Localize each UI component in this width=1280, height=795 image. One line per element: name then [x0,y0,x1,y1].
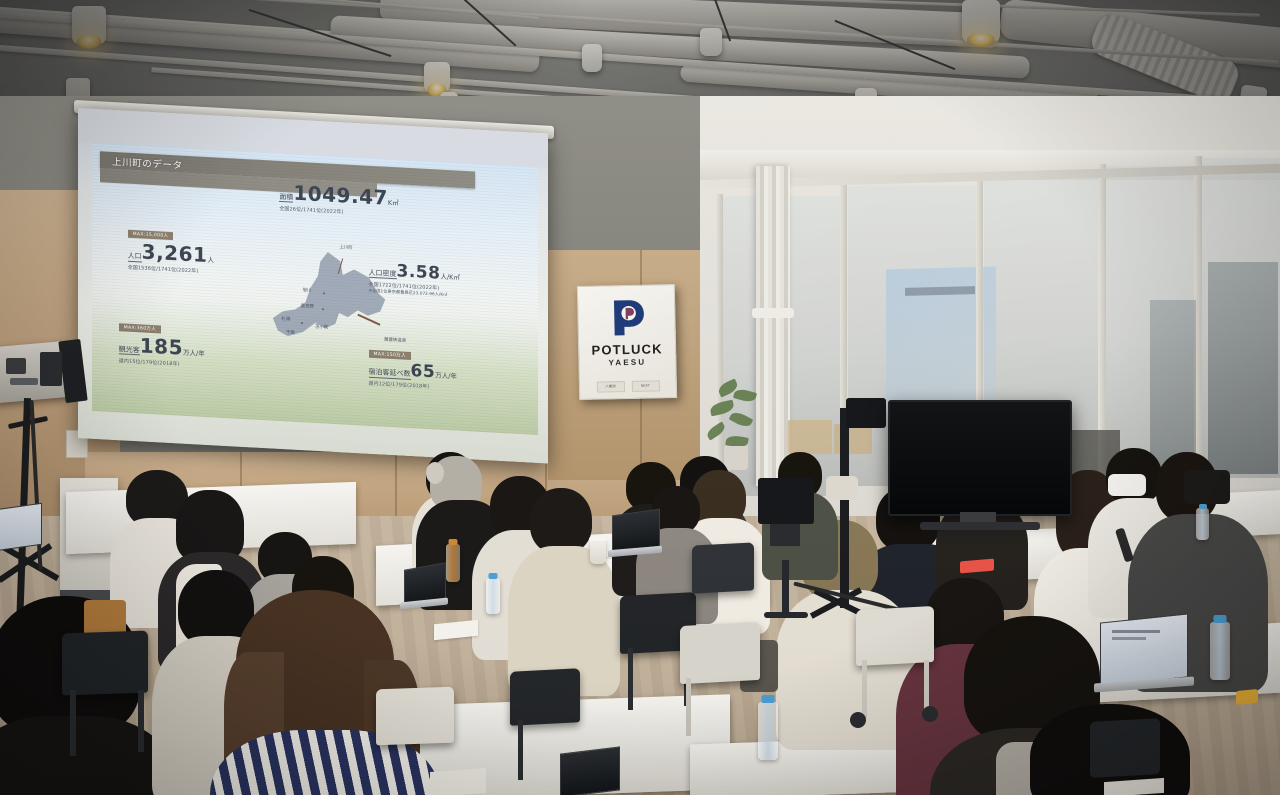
stat-density-label: 人口密度 [369,269,397,280]
map-city-label: 旭川 [303,287,312,293]
hokkaido-map [270,249,395,379]
paper-sheet [430,768,486,795]
bottle [486,578,500,614]
stat-tourists-sub: 道内15位/179位(2018年) [119,357,205,369]
stat-tourists-label: 観光客 [119,345,140,356]
background-stool [788,420,832,454]
chair-leg [70,690,76,756]
stat-population-unit: 人 [207,256,214,264]
stat-area-value: 1049.47 [293,180,388,209]
tv-stand-base [920,522,1040,530]
monitor-stand [770,524,800,546]
bottle [446,544,460,582]
chair[interactable] [692,542,754,593]
map-city-dot [322,309,324,311]
stat-area-unit: K㎡ [388,199,399,208]
stat-area-sub: 全国26位/1741位(2022年) [279,205,398,218]
chair-leg [628,648,633,710]
snack-item [1236,689,1258,705]
chair-leg [518,720,523,780]
map-city-dot [301,322,303,324]
caster-wheel [850,712,866,728]
caster-wheel [922,706,938,722]
bottle [1210,622,1230,680]
stat-density-sub: 全国1722位/1741位(2022年) [369,281,460,293]
equipment-stand [782,560,789,616]
sign-partner-logo-2: NEXT [631,380,659,392]
stat-population-value: 3,261 [142,239,208,267]
camera-tripod-column [840,408,849,608]
chair[interactable] [510,668,580,726]
stat-tourists-tag: MAX:360万人 [119,323,161,333]
bottle [758,702,778,760]
yaesu-wordmark: YAESU [579,357,675,368]
laptop-screen[interactable] [1100,613,1188,686]
stat-tourists-unit: 万人/年 [183,349,205,358]
map-city-label: 富良野 [301,303,314,310]
glass-door-panel [1150,300,1196,470]
flat-screen-tv[interactable] [888,400,1072,516]
map-city-label: 札幌 [282,316,291,322]
equipment-stand-base [764,612,808,618]
glass-door-panel [1208,262,1278,474]
potluck-yaesu-sign: POTLUCK YAESU 八重洲 NEXT [577,284,677,400]
chair[interactable] [856,606,934,666]
sign-partner-logo-1: 八重洲 [596,381,624,393]
stat-area-label: 面積 [279,193,293,203]
map-callout-town: 上川町 [340,245,353,252]
stat-population-sub: 全国1536位/1741位(2022年) [128,264,214,276]
slide-title: 上川町のデータ [112,154,183,172]
stat-density-unit: 人/K㎡ [440,272,459,281]
stat-density-note: ※全国1位東京都豊島区23,072.96人/K㎡ [369,288,460,299]
chair[interactable] [376,687,454,746]
chair[interactable] [62,630,148,695]
stat-population-label: 人口 [128,252,142,262]
stat-tourists-value: 185 [140,333,183,359]
stat-area: 面積1049.47K㎡ 全国26位/1741位(2022年) [279,180,398,218]
map-city-label: 千歳 [286,329,295,335]
paper-sheet [1104,778,1164,795]
stat-tourists: MAX:360万人 観光客185万人/年 道内15位/179位(2018年) [119,313,205,369]
map-city-label: 苫小牧 [315,324,328,331]
stat-overnight-sub: 道内12位/179位(2018年) [369,380,457,392]
slide-surface: 上川町のデータ 上川町 層雲峡温泉 旭川 富良野 札幌 千歳 苫小牧 MAX:1… [92,143,538,435]
video-light-battery [40,352,62,386]
laptop-screen[interactable] [560,746,620,795]
laptop-screen[interactable] [0,503,42,551]
map-callout-onsen: 層雲峡温泉 [384,337,406,344]
stat-overnight-value: 65 [411,361,436,382]
stat-overnight-label: 宿泊客延べ数 [369,368,411,380]
laptop-screen-text [1112,637,1146,640]
curtain-tieback[interactable] [752,308,794,318]
seminar-room-photo: 上川町のデータ 上川町 層雲峡温泉 旭川 富良野 札幌 千歳 苫小牧 MAX:1… [0,0,1280,795]
map-city-dot [323,292,325,294]
map-leader-line [358,314,381,326]
handbag [1184,470,1230,504]
sign-partner-logos: 八重洲 NEXT [580,380,676,393]
stat-population-tag: MAX:15,000人 [128,230,174,240]
camera-body [846,398,886,428]
stat-density-value: 3.58 [397,261,441,283]
stat-overnight: MAX:150万人 宿泊客延べ数65万人/年 道内12位/179位(2018年) [369,340,457,392]
chair-leg [686,678,691,736]
bottle [1196,508,1209,540]
potluck-wordmark: POTLUCK [579,341,675,358]
laptop-screen-text [1112,630,1160,633]
chair-leg [138,690,144,752]
video-light-display [6,358,26,374]
chair[interactable] [680,622,760,684]
projector-screen: 上川町のデータ 上川町 層雲峡温泉 旭川 富良野 札幌 千歳 苫小牧 MAX:1… [78,108,548,463]
map-leader-line [337,258,343,274]
monitor[interactable] [758,478,814,524]
stat-overnight-tag: MAX:150万人 [369,350,411,360]
camera-lens-icon [826,476,858,500]
stat-overnight-unit: 万人/年 [435,372,457,381]
video-light-controls[interactable] [10,378,38,385]
stat-density: 人口密度3.58人/K㎡ 全国1722位/1741位(2022年) ※全国1位東… [369,260,460,299]
chair[interactable] [1090,718,1160,778]
potluck-p-logo-icon [607,297,646,338]
slide-title-bar-secondary [100,168,377,197]
coffee-cup [590,540,606,564]
stat-population: MAX:15,000人 人口3,261人 全国1536位/1741位(2022年… [128,220,214,276]
chair-leg [862,660,867,718]
